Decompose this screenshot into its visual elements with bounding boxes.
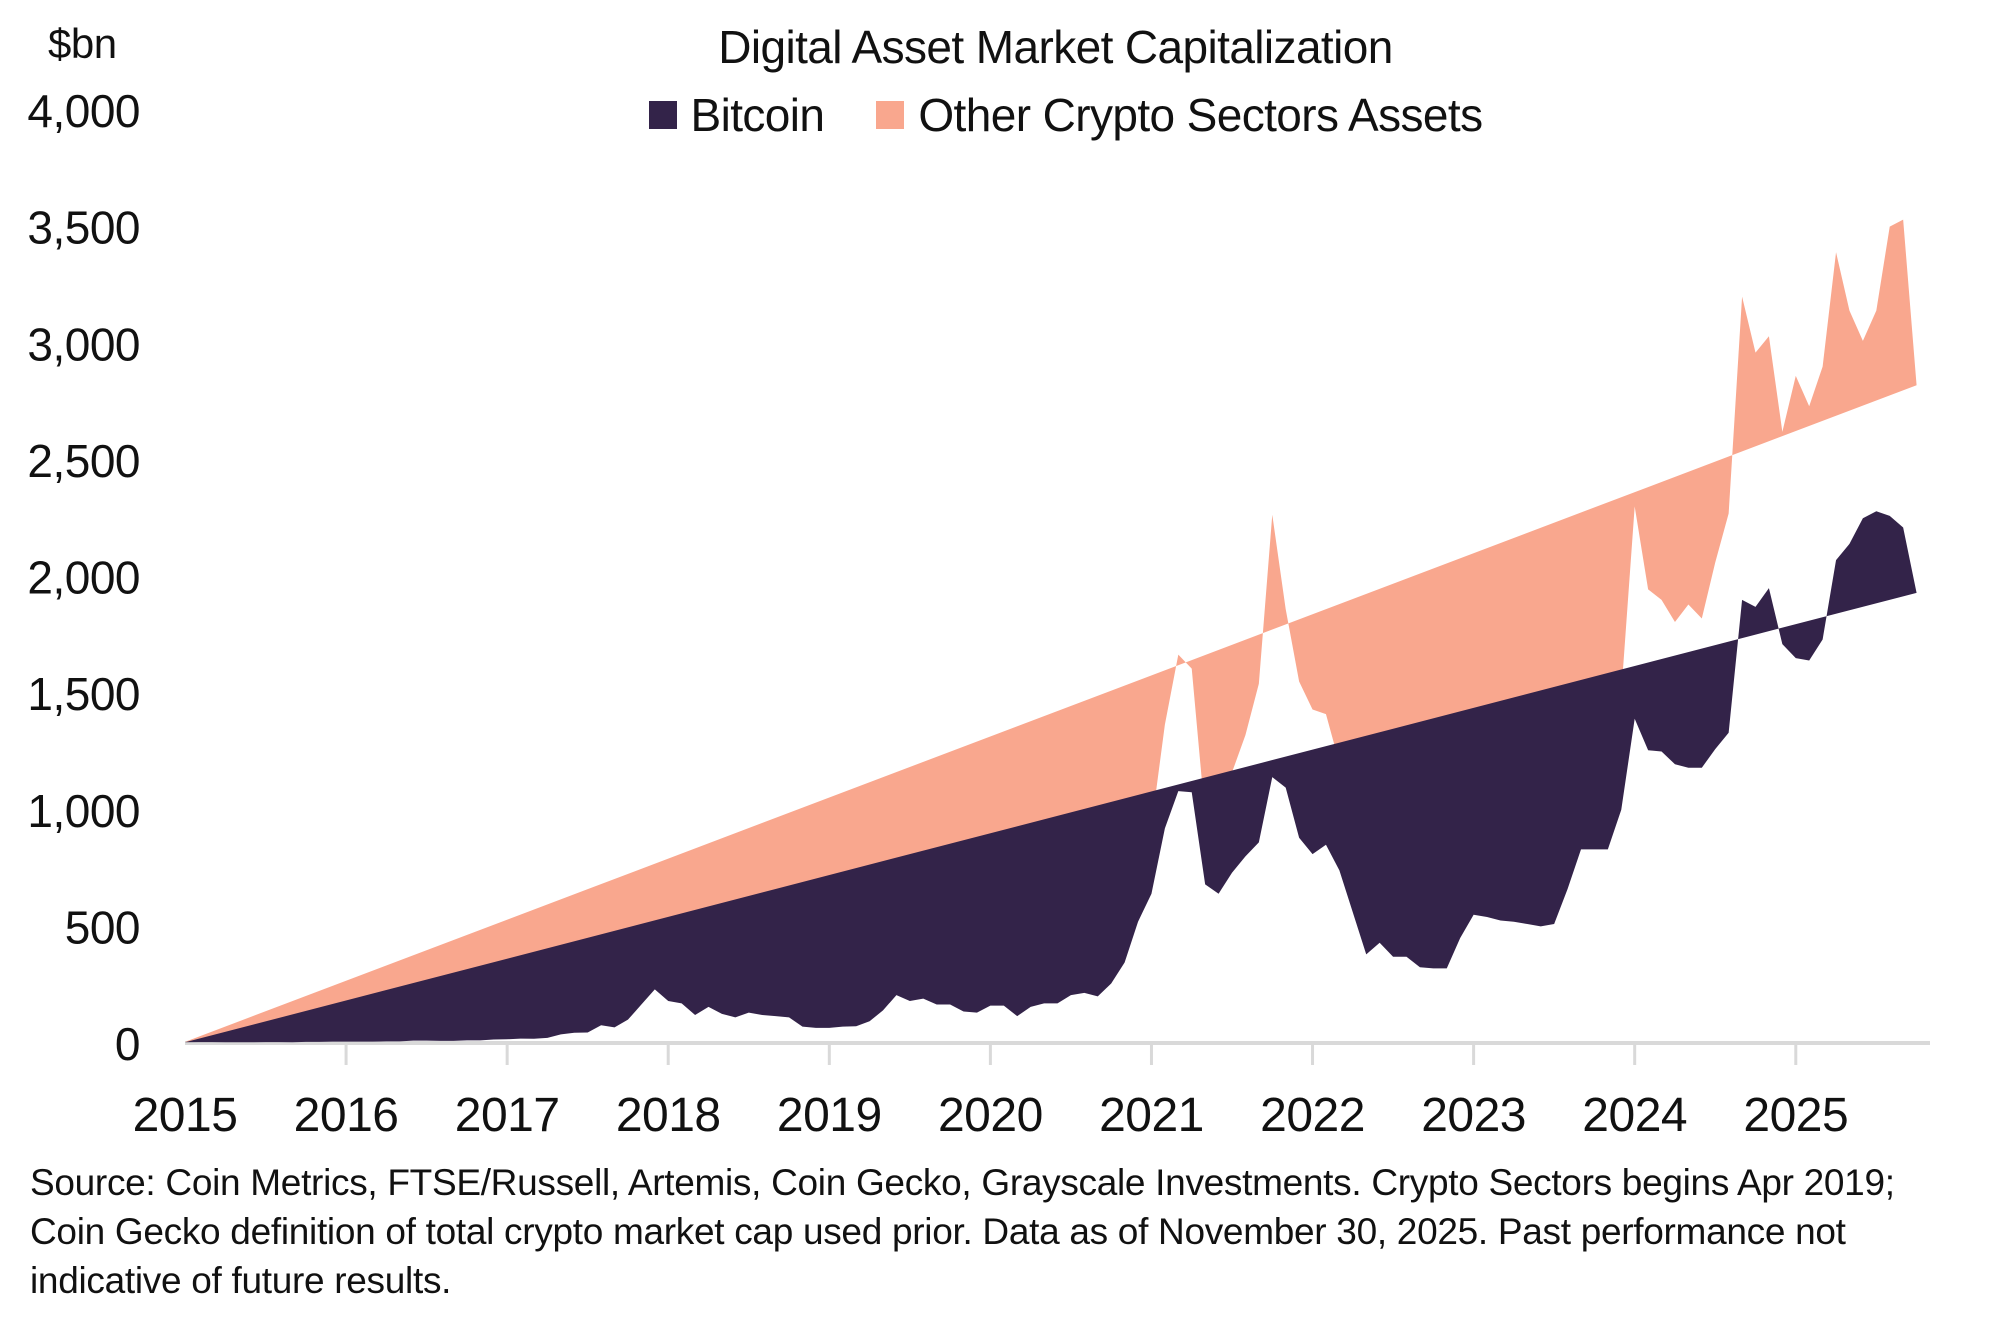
- y-axis-tick-0: 0: [115, 1018, 140, 1070]
- y-axis-tick-4000: 4,000: [27, 85, 140, 137]
- x-axis-tick-marks: [346, 1045, 1796, 1065]
- y-axis-tick-2500: 2,500: [27, 435, 140, 487]
- x-axis-tick-2018: 2018: [616, 1089, 721, 1142]
- x-axis-tick-2023: 2023: [1421, 1089, 1526, 1142]
- x-axis-tick-2020: 2020: [938, 1089, 1043, 1142]
- x-axis-tick-2017: 2017: [455, 1089, 560, 1142]
- x-axis-tick-2024: 2024: [1582, 1089, 1687, 1142]
- area-chart-svg: 4,0003,5003,0002,5002,0001,5001,0005000 …: [0, 0, 1991, 1320]
- x-axis-tick-2015: 2015: [133, 1089, 238, 1142]
- x-axis-tick-labels: 2015201620172018201920202021202220232024…: [133, 1089, 1849, 1142]
- plot-area: 4,0003,5003,0002,5002,0001,5001,0005000 …: [0, 0, 1991, 1320]
- x-axis-tick-2021: 2021: [1099, 1089, 1204, 1142]
- x-axis-tick-2019: 2019: [777, 1089, 882, 1142]
- y-axis-tick-500: 500: [65, 901, 140, 953]
- y-axis-tick-3000: 3,000: [27, 318, 140, 370]
- y-axis-tick-1000: 1,000: [27, 785, 140, 837]
- y-axis-tick-3500: 3,500: [27, 202, 140, 254]
- chart-footnote: Source: Coin Metrics, FTSE/Russell, Arte…: [30, 1158, 1960, 1306]
- x-axis-tick-2016: 2016: [294, 1089, 399, 1142]
- y-axis-tick-2000: 2,000: [27, 552, 140, 604]
- x-axis-tick-2025: 2025: [1743, 1089, 1848, 1142]
- y-axis-tick-labels: 4,0003,5003,0002,5002,0001,5001,0005000: [27, 85, 140, 1070]
- y-axis-tick-1500: 1,500: [27, 668, 140, 720]
- x-axis-tick-2022: 2022: [1260, 1089, 1365, 1142]
- chart-root: $bn Digital Asset Market Capitalization …: [0, 0, 1991, 1320]
